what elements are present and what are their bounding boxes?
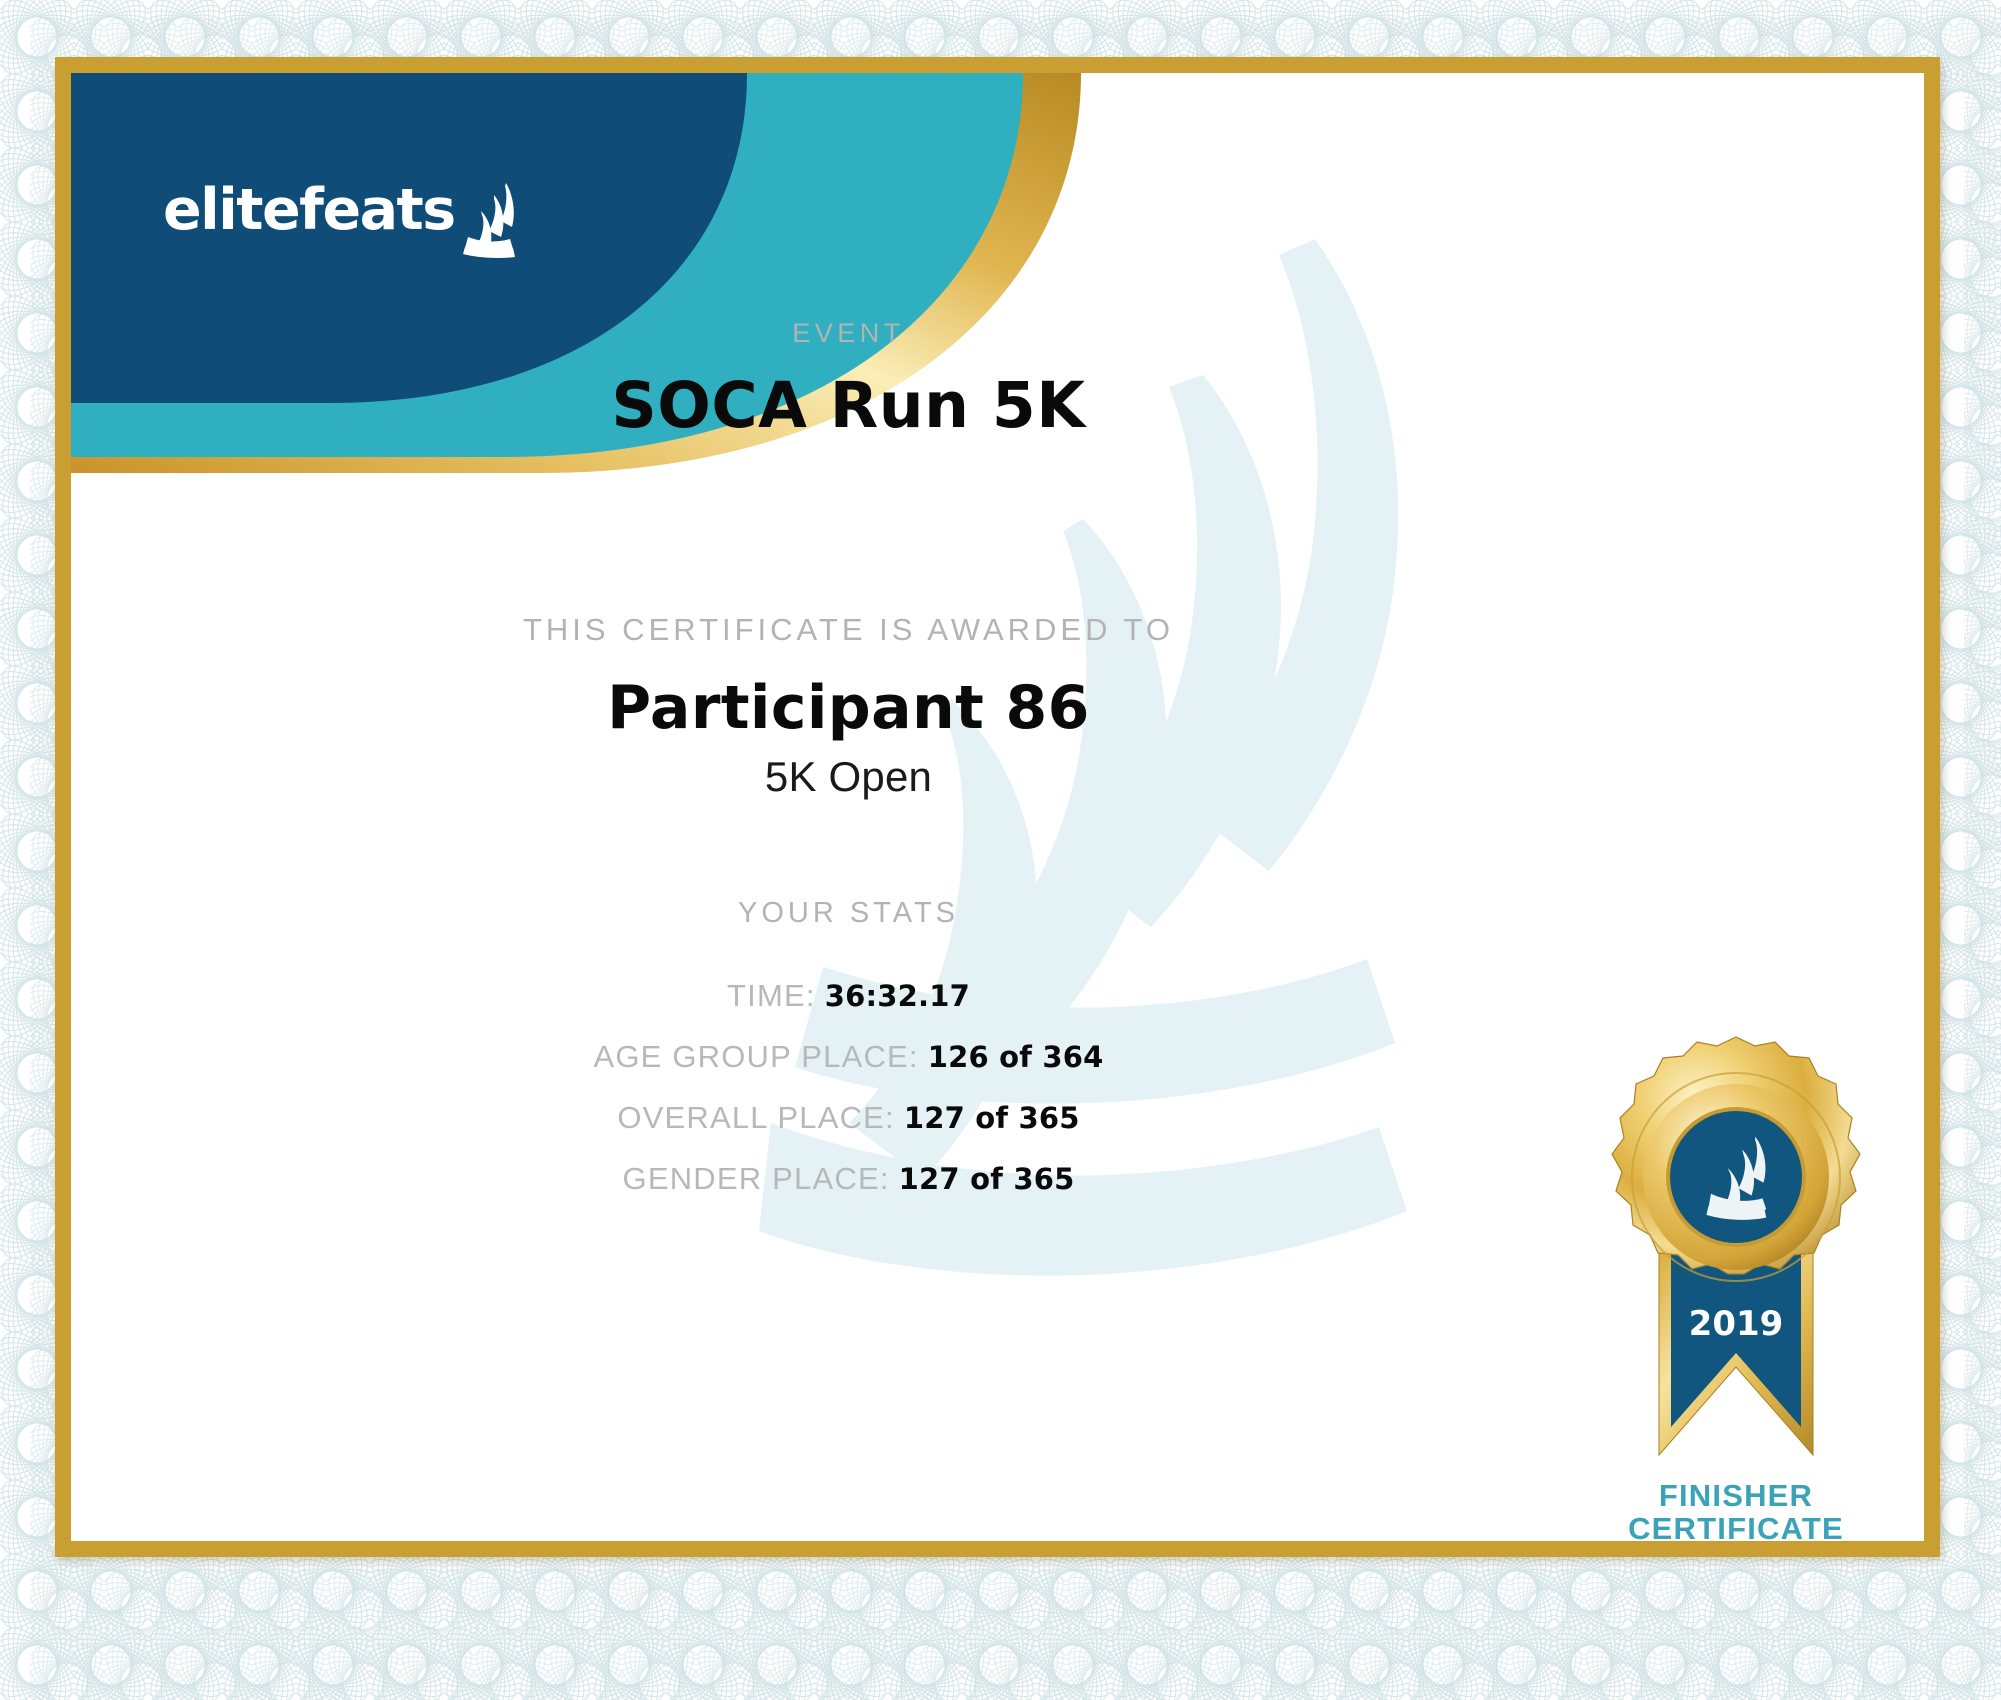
stat-value: 126 of 364 [928,1040,1104,1074]
your-stats-label: YOUR STATS [71,897,1626,930]
stat-row-time: TIME: 36:32.17 [71,978,1626,1014]
stat-label: TIME: [727,978,816,1014]
seal-caption-line-2: CERTIFICATE [1541,1512,1924,1541]
seal-medal-graphic: 2019 [1586,1035,1886,1475]
finisher-seal: 2019 [1541,1035,1924,1541]
stat-value: 127 of 365 [899,1162,1075,1196]
stat-row-age-group-place: AGE GROUP PLACE: 126 of 364 [71,1039,1626,1075]
event-title: SOCA Run 5K [71,371,1626,440]
stat-value: 127 of 365 [904,1101,1080,1135]
stat-row-overall-place: OVERALL PLACE: 127 of 365 [71,1100,1626,1136]
stat-value: 36:32.17 [825,979,970,1013]
stat-label: GENDER PLACE: [623,1161,890,1197]
stat-label: AGE GROUP PLACE: [593,1039,918,1075]
winged-foot-icon [460,181,530,259]
certificate-content: EVENT SOCA Run 5K THIS CERTIFICATE IS AW… [71,318,1626,1222]
stat-label: OVERALL PLACE: [617,1100,895,1136]
awarded-to-label: THIS CERTIFICATE IS AWARDED TO [71,612,1626,648]
stat-row-gender-place: GENDER PLACE: 127 of 365 [71,1161,1626,1197]
event-eyebrow-label: EVENT [71,318,1626,349]
recipient-name: Participant 86 [71,674,1626,743]
seal-caption: FINISHER CERTIFICATE [1541,1479,1924,1541]
brand-wordmark: elitefeats [163,182,455,239]
certificate-gold-frame: elitefeats EVENT SOCA Run 5K THIS CERTIF… [55,57,1940,1557]
stats-list: TIME: 36:32.17 AGE GROUP PLACE: 126 of 3… [71,978,1626,1197]
recipient-division: 5K Open [71,753,1626,801]
brand-logo: elitefeats [163,181,530,239]
certificate-page: elitefeats EVENT SOCA Run 5K THIS CERTIF… [0,0,2001,1700]
seal-year: 2019 [1689,1304,1784,1344]
seal-caption-line-1: FINISHER [1541,1479,1924,1512]
certificate-body: elitefeats EVENT SOCA Run 5K THIS CERTIF… [71,73,1924,1541]
